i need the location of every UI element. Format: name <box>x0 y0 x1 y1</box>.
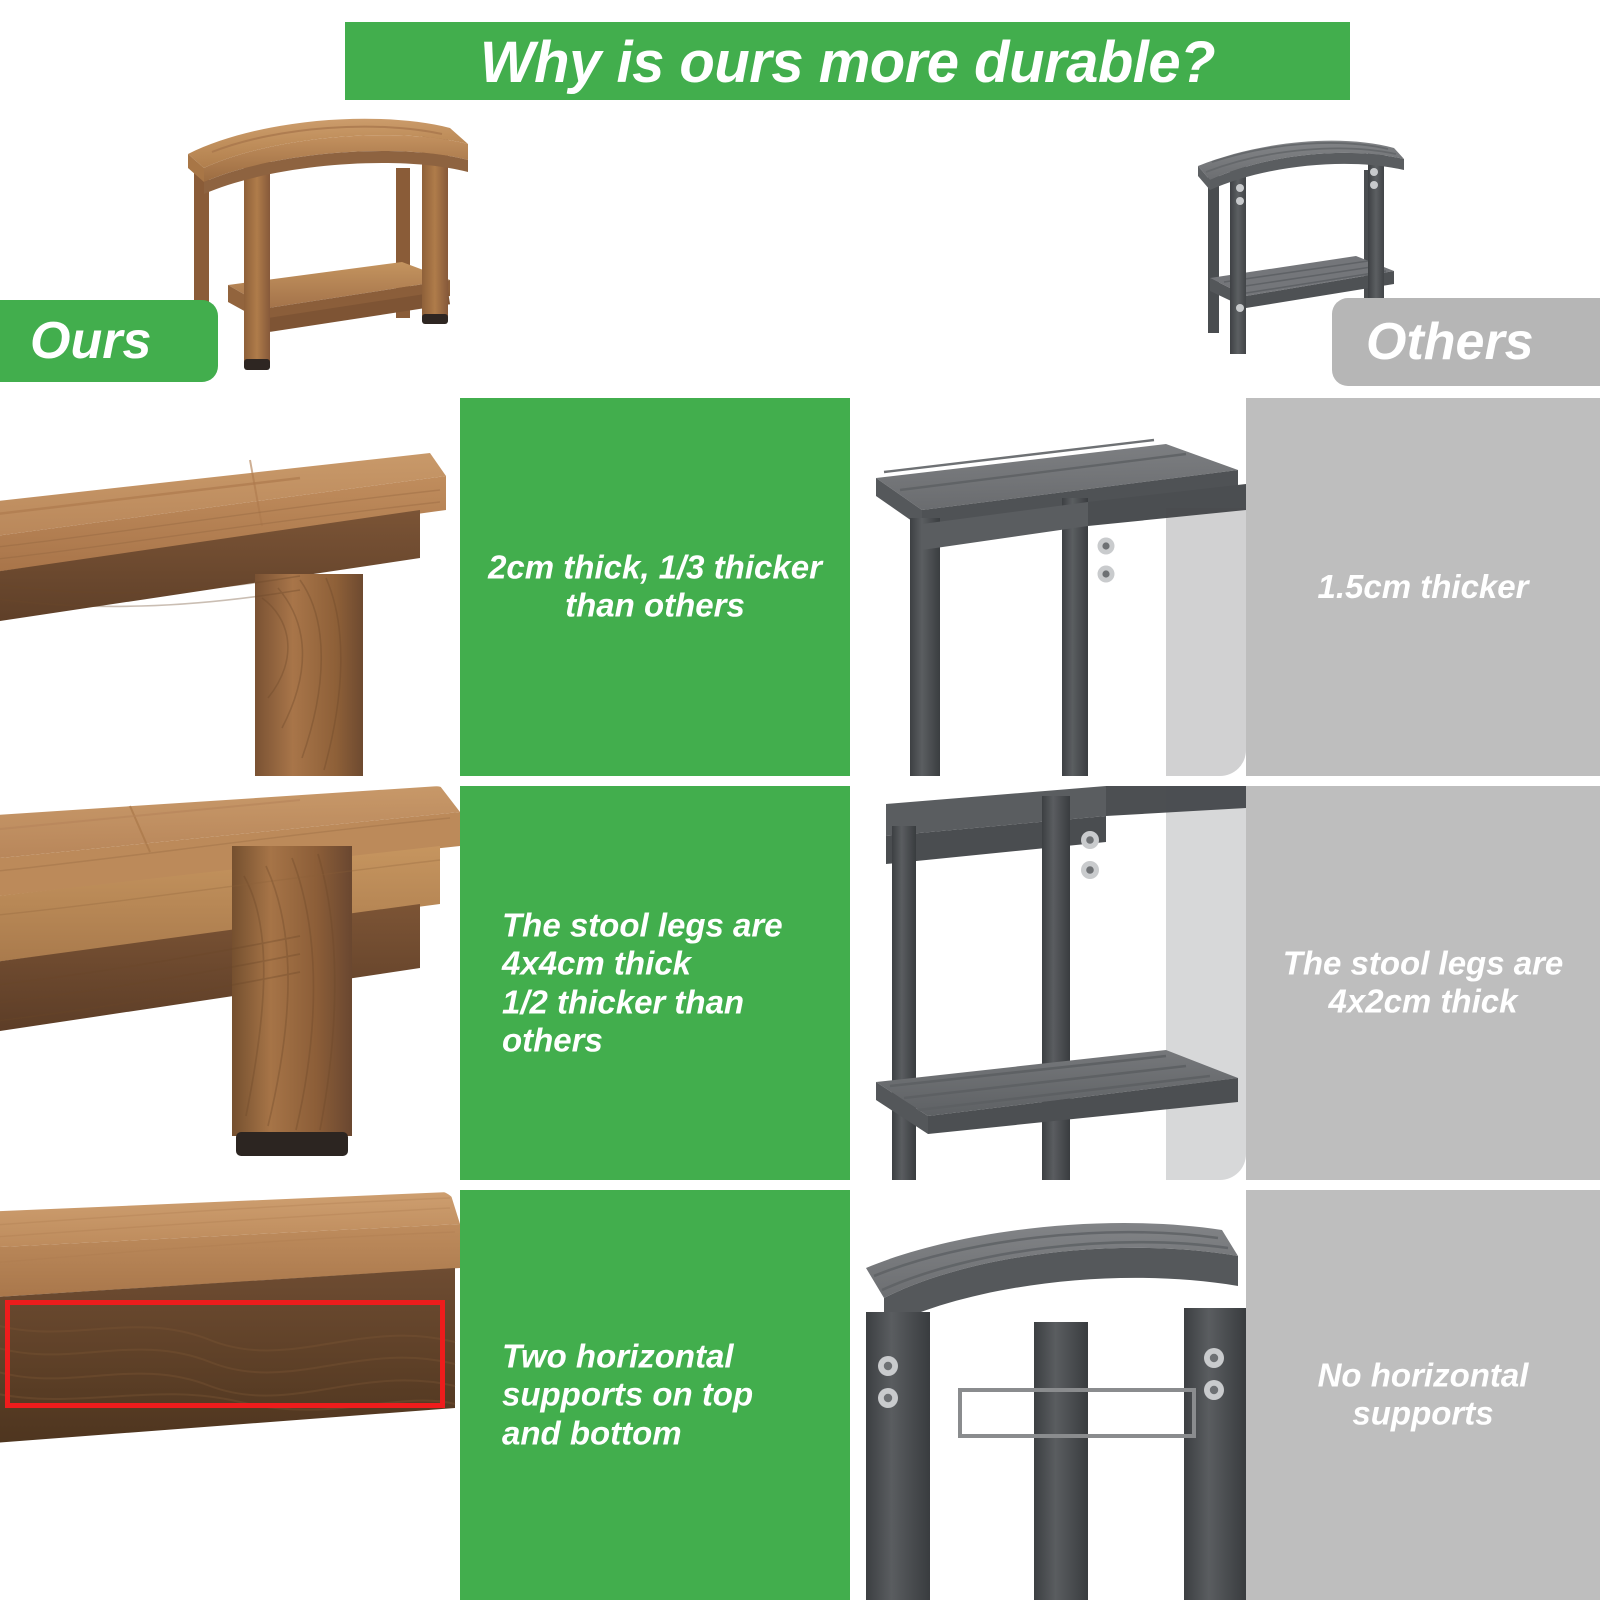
row3-ours-image <box>0 1190 460 1600</box>
screw-icon <box>1236 197 1244 205</box>
others-badge-label: Others <box>1366 312 1534 372</box>
stool-foot-pad-right <box>422 314 448 324</box>
row1-ours-caption: 2cm thick, 1/3 thicker than others <box>460 549 850 626</box>
hero-section: Ours <box>0 100 1600 392</box>
row1-ours-image <box>0 398 460 776</box>
screw-icon <box>1370 168 1378 176</box>
page-title-banner: Why is ours more durable? <box>345 22 1350 102</box>
table-back-left-leg <box>1208 173 1219 333</box>
row2-divider <box>850 786 866 1180</box>
row1-others-image <box>866 398 1246 776</box>
table-leg-center <box>1034 1322 1088 1600</box>
row2-ours-caption: The stool legs are 4x4cm thick 1/2 thick… <box>460 906 850 1059</box>
missing-support-highlight-box <box>958 1388 1196 1438</box>
others-badge: Others <box>1332 298 1600 386</box>
row2-others-caption: The stool legs are 4x2cm thick <box>1246 945 1600 1022</box>
grey-top-closeup <box>866 398 1246 776</box>
screw-icon <box>1236 304 1244 312</box>
row1-others-caption: 1.5cm thicker <box>1246 568 1600 606</box>
table-thin-leg-left <box>892 826 916 1180</box>
row2-ours-caption-panel: The stool legs are 4x4cm thick 1/2 thick… <box>460 786 850 1180</box>
row3-divider <box>850 1190 866 1600</box>
row3-ours-caption-panel: Two horizontal supports on top and botto… <box>460 1190 850 1600</box>
row3-others-image <box>866 1190 1246 1600</box>
comparison-row-3: Two horizontal supports on top and botto… <box>0 1190 1600 1600</box>
row2-others-image <box>866 786 1246 1180</box>
screw-icon <box>1370 181 1378 189</box>
row2-ours-image <box>0 786 460 1180</box>
row3-others-caption-panel: No horizontal supports <box>1246 1190 1600 1600</box>
row2-others-caption-panel: The stool legs are 4x2cm thick <box>1246 786 1600 1180</box>
row1-divider <box>850 398 866 776</box>
page-title: Why is ours more durable? <box>480 29 1215 96</box>
stool-foot-pad-left <box>244 359 270 370</box>
wood-top-closeup <box>0 398 460 776</box>
table-front-leg <box>910 518 940 776</box>
table-side-leg <box>1062 498 1088 776</box>
row1-others-caption-panel: 1.5cm thicker <box>1246 398 1600 776</box>
wood-leg-closeup <box>0 786 460 1180</box>
table-leg-left <box>866 1312 930 1600</box>
screw-icon <box>1236 184 1244 192</box>
row3-ours-caption: Two horizontal supports on top and botto… <box>460 1338 850 1453</box>
table-front-left-leg <box>1230 164 1246 354</box>
stool-front-left-leg <box>244 158 270 363</box>
infographic-page: Why is ours more durable? <box>0 0 1600 1600</box>
ours-badge-label: Ours <box>30 311 151 371</box>
row1-ours-caption-panel: 2cm thick, 1/3 thicker than others <box>460 398 850 776</box>
comparison-row-2: The stool legs are 4x4cm thick 1/2 thick… <box>0 786 1600 1180</box>
row3-others-caption: No horizontal supports <box>1246 1357 1600 1434</box>
support-highlight-box <box>5 1300 445 1408</box>
ours-badge: Ours <box>0 300 218 382</box>
stool-foot-pad <box>236 1132 348 1156</box>
table-thin-leg-center <box>1042 796 1070 1180</box>
comparison-row-1: 2cm thick, 1/3 thicker than others <box>0 398 1600 776</box>
stool-leg <box>255 574 363 776</box>
grey-leg-closeup <box>866 786 1246 1180</box>
